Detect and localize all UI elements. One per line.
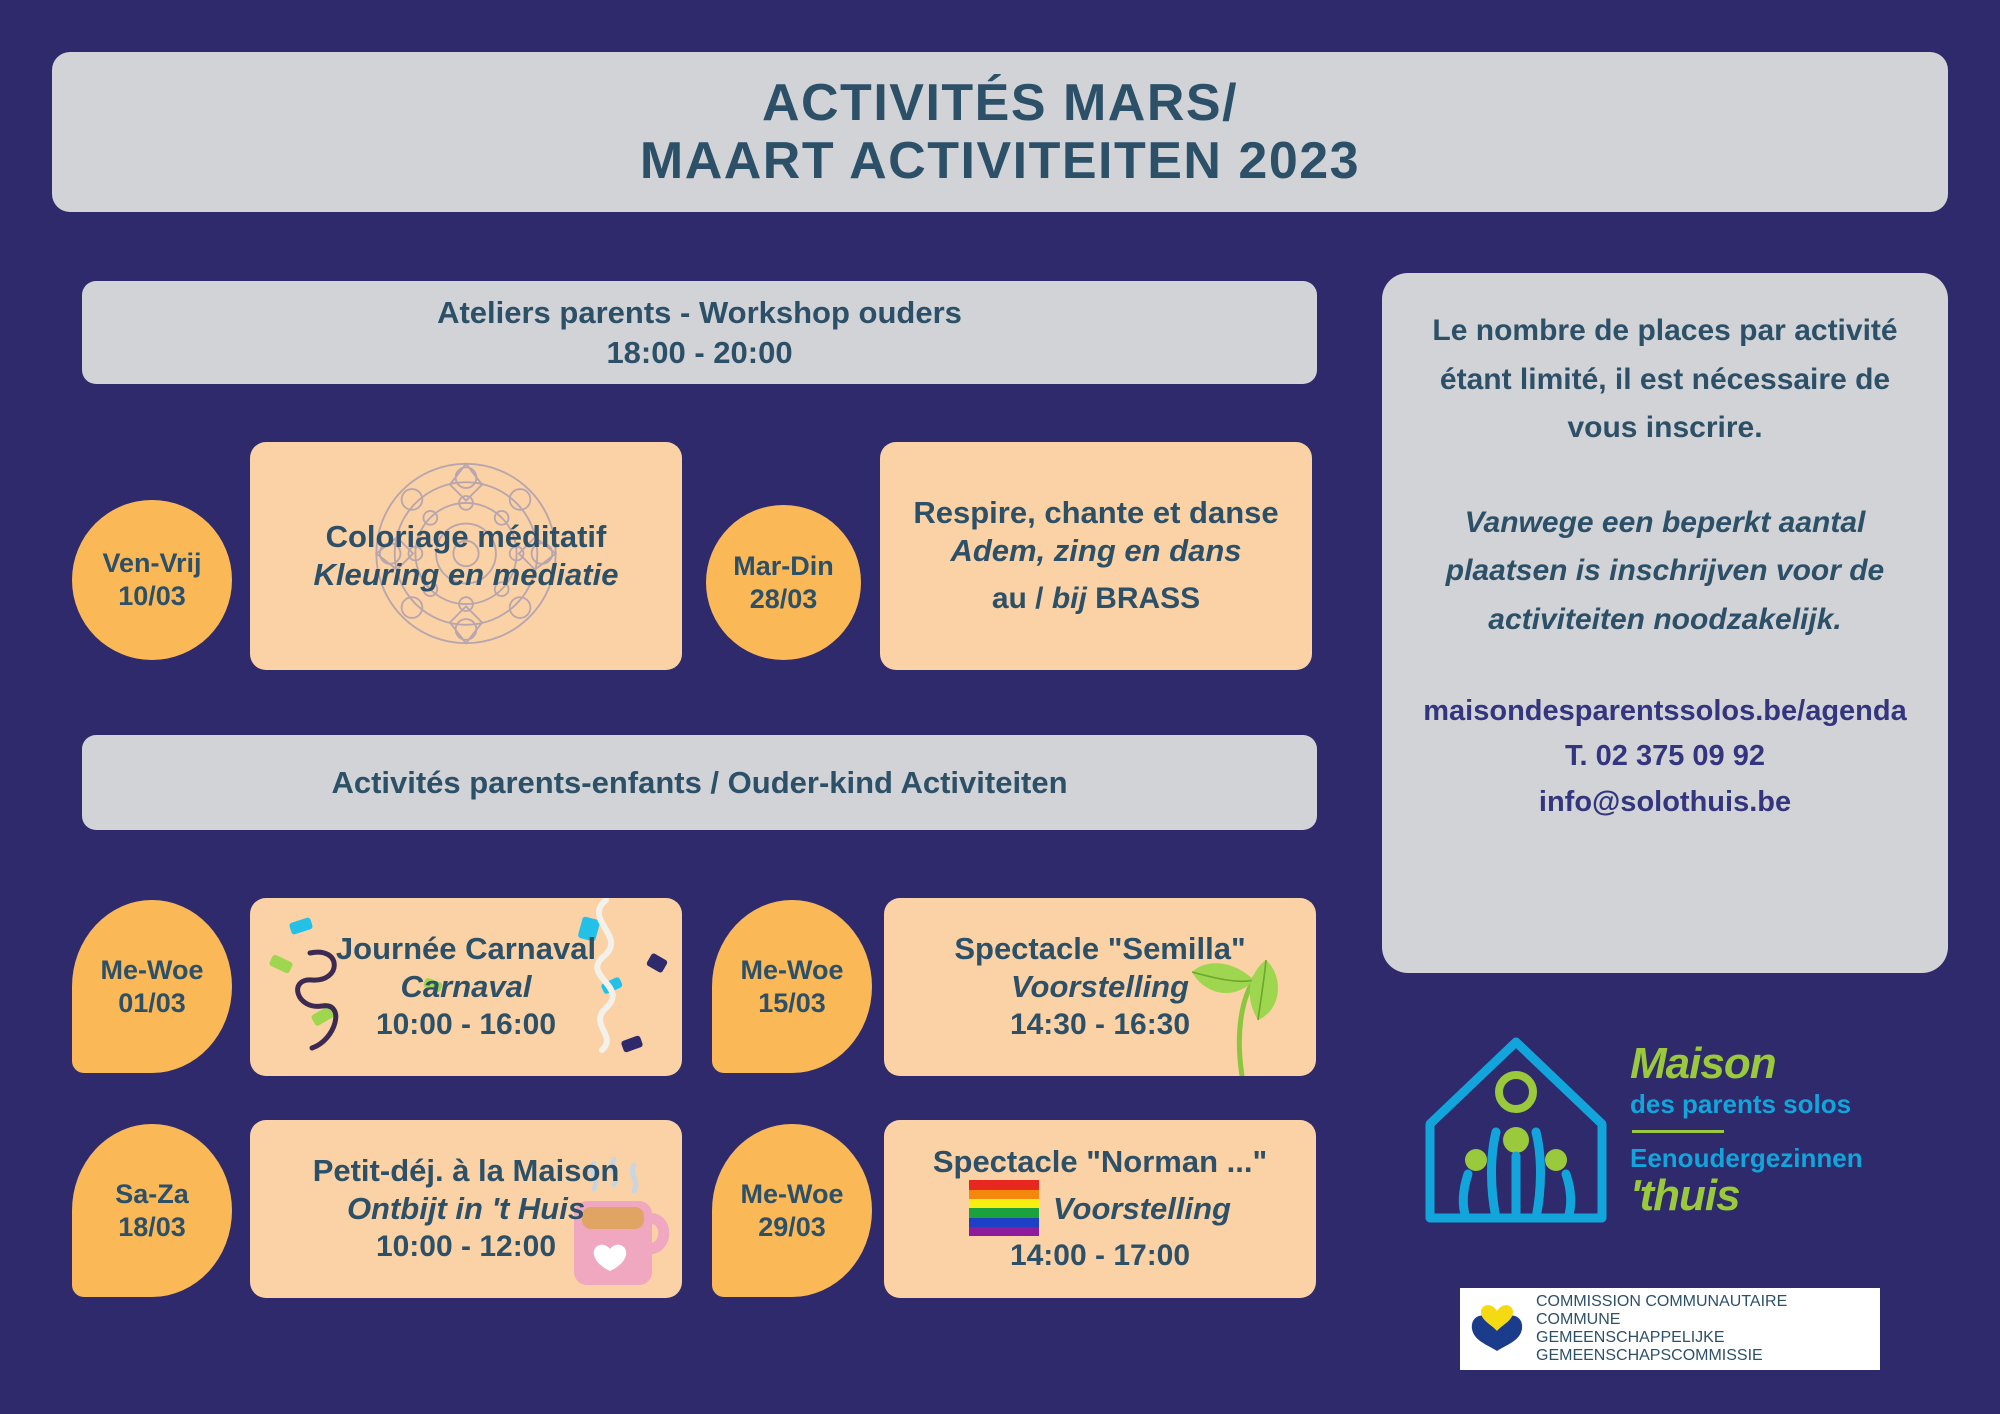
date-badge-day: Me-Woe bbox=[740, 954, 843, 987]
ccc-line-fr: COMMISSION COMMUNAUTAIRE COMMUNE bbox=[1536, 1293, 1874, 1329]
activity-title-nl: Ontbijt in 't Huis bbox=[347, 1190, 585, 1228]
date-badge-28-03: Mar-Din 28/03 bbox=[706, 505, 861, 660]
date-badge-date: 18/03 bbox=[118, 1211, 186, 1244]
section-title-workshops: Ateliers parents - Workshop ouders bbox=[437, 293, 962, 333]
maison-des-parents-solos-logo: Maison des parents solos Eenoudergezinne… bbox=[1418, 1030, 1928, 1230]
activity-title-fr: Coloriage méditatif bbox=[326, 518, 607, 556]
date-badge-day: Me-Woe bbox=[100, 954, 203, 987]
logo-wordmark-block: Maison des parents solos Eenoudergezinne… bbox=[1630, 1042, 1863, 1218]
contact-block: maisondesparentssolos.be/agenda T. 02 37… bbox=[1408, 689, 1922, 826]
rainbow-flag-icon bbox=[969, 1180, 1039, 1236]
logo-thuis-word: 'thuis bbox=[1630, 1174, 1863, 1218]
activity-card-respire: Respire, chante et danse Adem, zing en d… bbox=[880, 442, 1312, 670]
date-badge-15-03: Me-Woe 15/03 bbox=[712, 900, 872, 1073]
date-badge-date: 29/03 bbox=[758, 1211, 826, 1244]
date-badge-01-03: Me-Woe 01/03 bbox=[72, 900, 232, 1073]
date-badge-date: 28/03 bbox=[750, 583, 818, 616]
activity-card-norman: Spectacle "Norman ..." Voorstelling 14:0… bbox=[884, 1120, 1316, 1298]
activity-time: 10:00 - 12:00 bbox=[376, 1227, 556, 1266]
date-badge-day: Mar-Din bbox=[733, 550, 834, 583]
activity-time: 14:00 - 17:00 bbox=[1010, 1236, 1190, 1275]
section-title-family: Activités parents-enfants / Ouder-kind A… bbox=[331, 763, 1067, 803]
registration-info-panel: Le nombre de places par activité étant l… bbox=[1382, 273, 1948, 973]
activity-title-fr: Journée Carnaval bbox=[336, 930, 596, 968]
title-line-fr: ACTIVITÉS MARS/ bbox=[762, 74, 1238, 132]
contact-email[interactable]: info@solothuis.be bbox=[1408, 780, 1922, 826]
date-badge-day: Ven-Vrij bbox=[102, 547, 201, 580]
venue-italic: bij bbox=[1052, 582, 1087, 615]
date-badge-date: 01/03 bbox=[118, 987, 186, 1020]
venue-suffix: BRASS bbox=[1087, 582, 1200, 615]
activity-title-nl: Adem, zing en dans bbox=[950, 532, 1241, 570]
date-badge-date: 15/03 bbox=[758, 987, 826, 1020]
info-text-nl: Vanwege een beperkt aantal plaatsen is i… bbox=[1408, 499, 1922, 645]
activity-title-fr: Spectacle "Norman ..." bbox=[933, 1143, 1267, 1181]
logo-subtitle-fr: des parents solos bbox=[1630, 1090, 1863, 1119]
date-badge-29-03: Me-Woe 29/03 bbox=[712, 1124, 872, 1297]
activity-title-nl: Voorstelling bbox=[1053, 1190, 1231, 1228]
activity-card-carnaval: Journée Carnaval Carnaval 10:00 - 16:00 bbox=[250, 898, 682, 1076]
poster-title-banner: ACTIVITÉS MARS/ MAART ACTIVITEITEN 2023 bbox=[52, 52, 1948, 212]
section-header-workshops: Ateliers parents - Workshop ouders 18:00… bbox=[82, 281, 1317, 384]
logo-subtitle-nl: Eenoudergezinnen bbox=[1630, 1144, 1863, 1173]
date-badge-date: 10/03 bbox=[118, 580, 186, 613]
date-badge-day: Me-Woe bbox=[740, 1178, 843, 1211]
ccc-text-block: COMMISSION COMMUNAUTAIRE COMMUNE GEMEENS… bbox=[1536, 1293, 1874, 1365]
date-badge-day: Sa-Za bbox=[115, 1178, 189, 1211]
ccc-line-nl: GEMEENSCHAPPELIJKE GEMEENSCHAPSCOMMISSIE bbox=[1536, 1329, 1874, 1365]
contact-website[interactable]: maisondesparentssolos.be/agenda bbox=[1408, 689, 1922, 735]
logo-divider bbox=[1632, 1130, 1724, 1133]
title-line-nl: MAART ACTIVITEITEN 2023 bbox=[640, 132, 1360, 190]
section-header-family: Activités parents-enfants / Ouder-kind A… bbox=[82, 735, 1317, 830]
activity-card-petitdej: Petit-déj. à la Maison Ontbijt in 't Hui… bbox=[250, 1120, 682, 1298]
activity-card-coloriage: Coloriage méditatif Kleuring en mediatie bbox=[250, 442, 682, 670]
activity-title-nl: Voorstelling bbox=[1011, 968, 1189, 1006]
info-text-fr: Le nombre de places par activité étant l… bbox=[1408, 307, 1922, 453]
activity-title-fr: Respire, chante et danse bbox=[913, 494, 1278, 532]
venue-prefix: au / bbox=[992, 582, 1052, 615]
activity-time: 10:00 - 16:00 bbox=[376, 1005, 556, 1044]
activity-title-fr: Petit-déj. à la Maison bbox=[313, 1152, 620, 1190]
ccc-emblem-icon bbox=[1466, 1299, 1528, 1360]
activity-time: 14:30 - 16:30 bbox=[1010, 1005, 1190, 1044]
activity-title-nl: Kleuring en mediatie bbox=[314, 556, 619, 594]
date-badge-18-03: Sa-Za 18/03 bbox=[72, 1124, 232, 1297]
contact-phone[interactable]: T. 02 375 09 92 bbox=[1408, 734, 1922, 780]
activity-venue: au / bij BRASS bbox=[992, 579, 1200, 618]
ccc-gcc-logo: COMMISSION COMMUNAUTAIRE COMMUNE GEMEENS… bbox=[1460, 1288, 1880, 1370]
house-family-icon bbox=[1418, 1028, 1614, 1233]
activity-title-fr: Spectacle "Semilla" bbox=[954, 930, 1245, 968]
activity-title-nl: Carnaval bbox=[401, 968, 532, 1006]
logo-maison-word: Maison bbox=[1630, 1042, 1863, 1086]
activity-card-semilla: Spectacle "Semilla" Voorstelling 14:30 -… bbox=[884, 898, 1316, 1076]
activity-nl-row: Voorstelling bbox=[969, 1180, 1231, 1236]
section-time-workshops: 18:00 - 20:00 bbox=[606, 333, 792, 373]
date-badge-10-03: Ven-Vrij 10/03 bbox=[72, 500, 232, 660]
